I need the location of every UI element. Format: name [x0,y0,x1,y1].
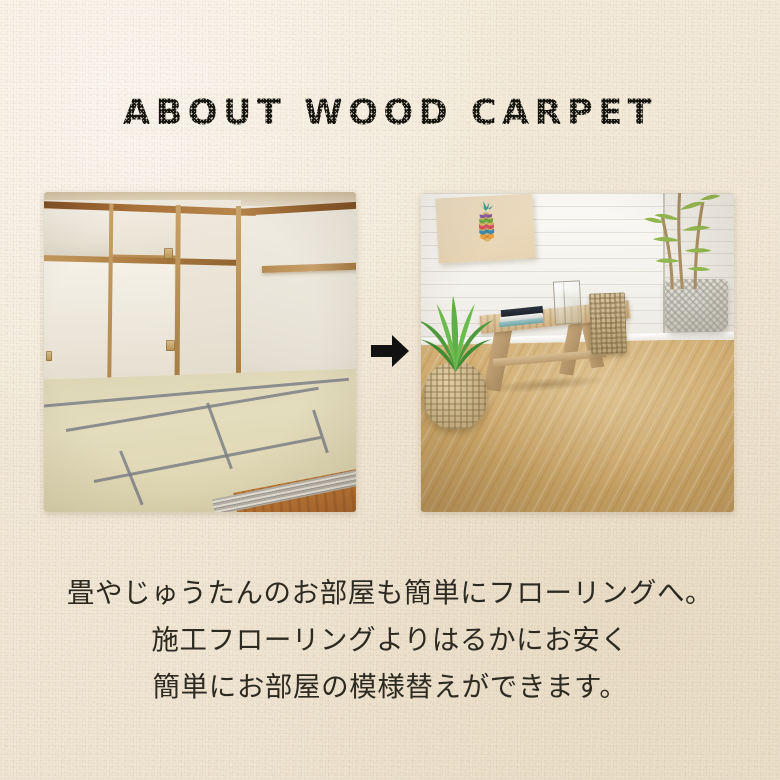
page-title: ABOUT WOOD CARPET [0,93,780,133]
glass-lantern [553,280,582,325]
before-photo [44,192,356,512]
after-photo [421,193,734,512]
caption-line-2: 施工フローリングよりはるかにお安く [0,617,780,664]
tall-plant-icon [631,193,731,289]
after-photo-scene [421,193,734,512]
promo-banner: ABOUT WOOD CARPET [0,0,780,780]
arrow-right-icon [370,334,410,368]
caption-line-3: 簡単にお部屋の模様替えができます。 [0,664,780,711]
caption-block: 畳やじゅうたんのお部屋も簡単にフローリングへ。 施工フローリングよりはるかにお安… [0,570,780,711]
caption-line-1: 畳やじゅうたんのお部屋も簡単にフローリングへ。 [0,570,780,617]
woven-hamper-basket [589,293,627,355]
fusuma-handle-3 [46,351,52,361]
pineapple-artwork [435,194,536,265]
spiky-plant-icon [421,289,496,378]
fusuma-transom-panel-left [44,210,108,256]
fusuma-handle-2 [166,340,175,351]
pineapple-icon [472,201,500,245]
fusuma-handle-1 [164,248,173,259]
before-photo-scene [44,192,356,512]
page-title-text: ABOUT WOOD CARPET [123,93,657,133]
